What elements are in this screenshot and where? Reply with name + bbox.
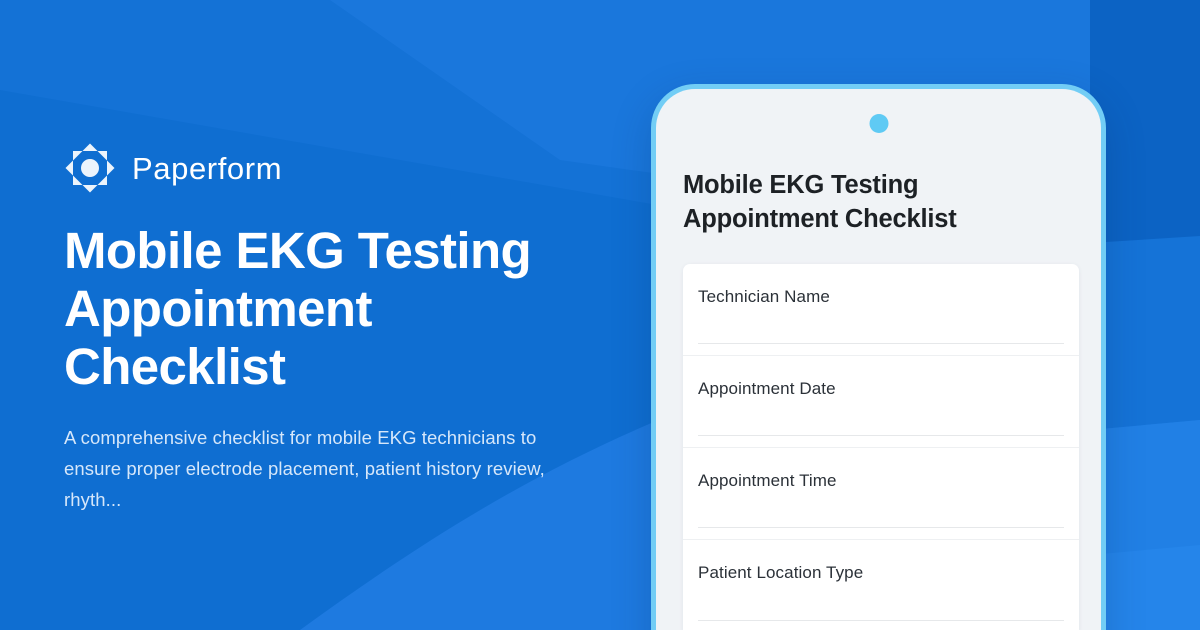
field-underline xyxy=(698,435,1064,436)
form-card: Technician Name Appointment Date Appoint… xyxy=(683,264,1079,630)
field-underline xyxy=(698,620,1064,621)
form-field-patient-location-type[interactable]: Patient Location Type xyxy=(683,540,1079,630)
field-label: Appointment Time xyxy=(698,470,1064,492)
field-label: Patient Location Type xyxy=(698,562,1064,584)
form-field-technician-name[interactable]: Technician Name xyxy=(683,264,1079,356)
page-title: Mobile EKG Testing Appointment Checklist xyxy=(64,222,534,396)
form-field-appointment-time[interactable]: Appointment Time xyxy=(683,448,1079,540)
form-field-appointment-date[interactable]: Appointment Date xyxy=(683,356,1079,448)
promo-card: Paperform Mobile EKG Testing Appointment… xyxy=(0,0,1200,630)
brand-lockup: Paperform xyxy=(64,140,604,196)
page-description: A comprehensive checklist for mobile EKG… xyxy=(64,422,579,515)
background-panel-right-top xyxy=(1090,0,1200,243)
background-panel-right-foot xyxy=(1090,545,1200,630)
field-underline xyxy=(698,527,1064,528)
paperform-star-logo-icon xyxy=(64,142,116,194)
brand-name: Paperform xyxy=(132,153,282,184)
field-underline xyxy=(698,343,1064,344)
field-label: Appointment Date xyxy=(698,378,1064,400)
hero-content: Paperform Mobile EKG Testing Appointment… xyxy=(64,140,604,515)
field-label: Technician Name xyxy=(698,286,1064,308)
form-title: Mobile EKG Testing Appointment Checklist xyxy=(683,168,1023,236)
background-panel-right-upper xyxy=(1090,232,1200,430)
camera-dot-icon xyxy=(869,114,888,133)
phone-mockup: Mobile EKG Testing Appointment Checklist… xyxy=(651,84,1106,630)
